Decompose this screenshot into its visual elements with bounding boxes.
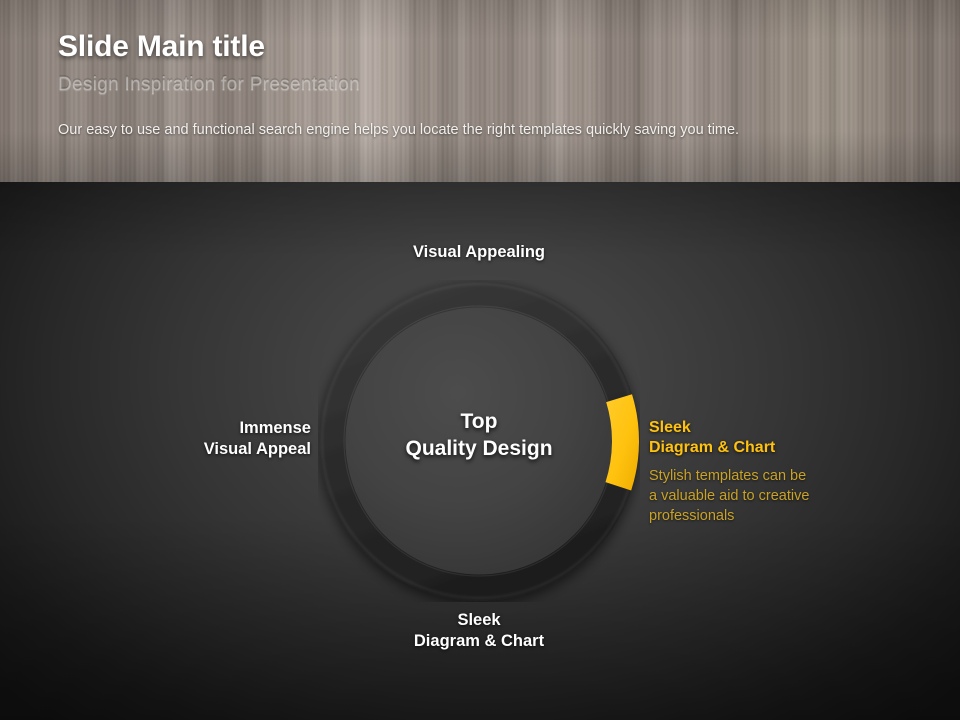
ring-label-immense-visual-appeal: Immense Visual Appeal xyxy=(145,418,311,460)
callout-description: Stylish templates can be a valuable aid … xyxy=(649,466,899,526)
page-title: Slide Main title xyxy=(58,30,265,64)
callout-block: Sleek Diagram & Chart Stylish templates … xyxy=(649,418,899,526)
ring-label-sleek-diagram-chart: Sleek Diagram & Chart xyxy=(379,610,579,652)
ring-label-visual-appealing: Visual Appealing xyxy=(379,242,579,263)
donut-center-label: Top Quality Design xyxy=(368,408,590,462)
header-lead-paragraph: Our easy to use and functional search en… xyxy=(58,120,778,141)
page-subtitle: Design Inspiration for Presentation xyxy=(58,74,360,96)
slide-canvas: Slide Main title Design Inspiration for … xyxy=(0,0,960,720)
callout-title: Sleek Diagram & Chart xyxy=(649,418,899,458)
